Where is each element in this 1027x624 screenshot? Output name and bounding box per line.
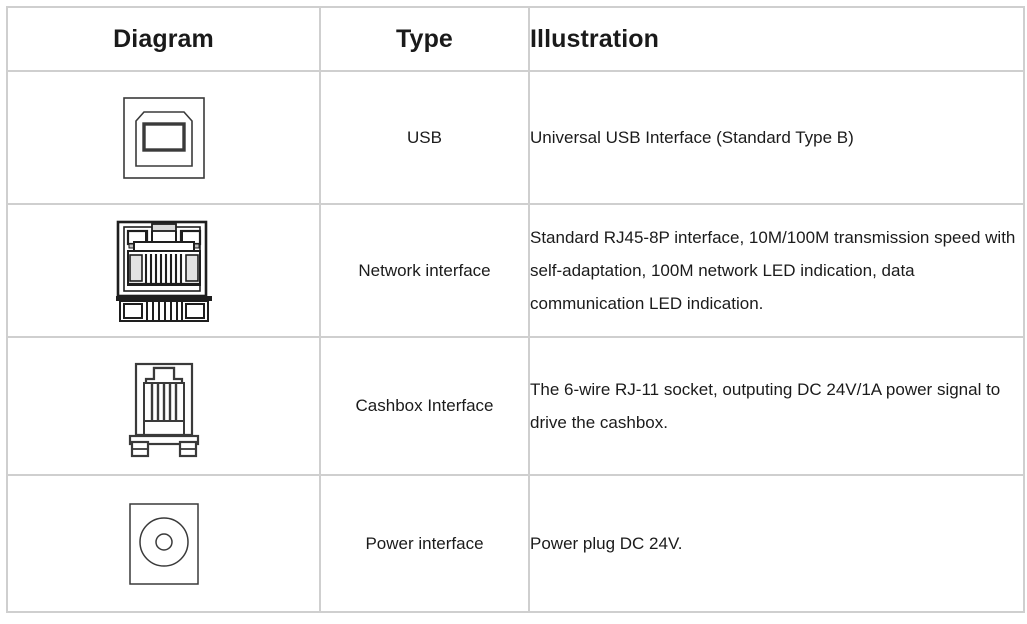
- header-diagram: Diagram: [7, 7, 320, 71]
- header-illustration: Illustration: [529, 7, 1024, 71]
- usb-type-b-connector-icon: [8, 96, 319, 180]
- diagram-cell-network: J8 J1: [7, 204, 320, 337]
- table-body: USB Universal USB Interface (Standard Ty…: [7, 71, 1024, 612]
- table-row: USB Universal USB Interface (Standard Ty…: [7, 71, 1024, 204]
- diagram-cell-power: [7, 475, 320, 612]
- illustration-text-power: Power plug DC 24V.: [529, 475, 1024, 612]
- header-type: Type: [320, 7, 529, 71]
- diagram-cell-cashbox: [7, 337, 320, 475]
- rj45-network-jack-icon: J8 J1: [8, 218, 319, 324]
- type-label-usb: USB: [320, 71, 529, 204]
- rj11-cashbox-socket-icon: [8, 354, 319, 458]
- diagram-cell-usb: [7, 71, 320, 204]
- type-label-cashbox: Cashbox Interface: [320, 337, 529, 475]
- table-row: Power interface Power plug DC 24V.: [7, 475, 1024, 612]
- type-label-power: Power interface: [320, 475, 529, 612]
- spec-table-page: Diagram Type Illustration USB: [0, 0, 1027, 624]
- table-header: Diagram Type Illustration: [7, 7, 1024, 71]
- header-row: Diagram Type Illustration: [7, 7, 1024, 71]
- dc-power-jack-icon: [8, 500, 319, 588]
- table-row: Cashbox Interface The 6-wire RJ-11 socke…: [7, 337, 1024, 475]
- table-row: J8 J1: [7, 204, 1024, 337]
- type-label-network: Network interface: [320, 204, 529, 337]
- illustration-text-cashbox: The 6-wire RJ-11 socket, outputing DC 24…: [529, 337, 1024, 475]
- illustration-text-usb: Universal USB Interface (Standard Type B…: [529, 71, 1024, 204]
- interface-spec-table: Diagram Type Illustration USB: [6, 6, 1025, 613]
- illustration-text-network: Standard RJ45-8P interface, 10M/100M tra…: [529, 204, 1024, 337]
